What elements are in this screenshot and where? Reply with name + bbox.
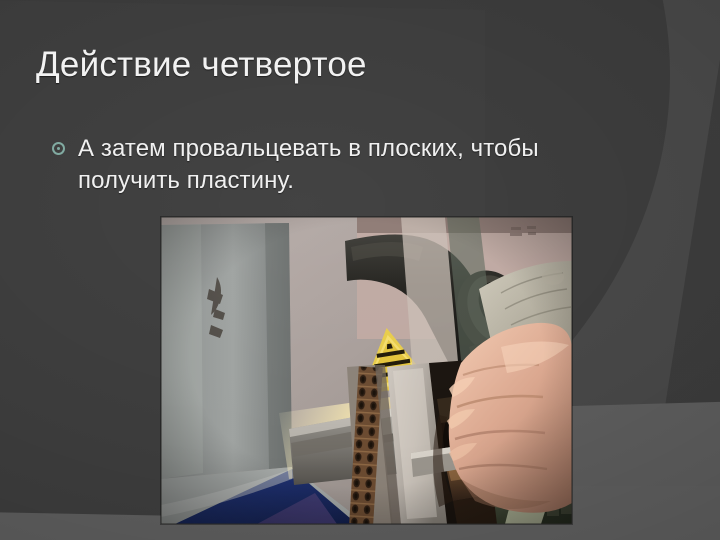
ring-bullet-icon bbox=[52, 142, 65, 155]
bullet-list-item: А затем провальцевать в плоских, чтобы п… bbox=[52, 133, 582, 197]
slide-title: Действие четвертое bbox=[36, 44, 676, 86]
slide-photo bbox=[161, 217, 572, 524]
rolling-mill-photo-illustration bbox=[161, 217, 572, 524]
presentation-slide: Действие четвертое А затем провальцевать… bbox=[0, 0, 720, 540]
bullet-item-label: А затем провальцевать в плоских, чтобы п… bbox=[78, 135, 539, 194]
slide-body: А затем провальцевать в плоских, чтобы п… bbox=[52, 133, 582, 197]
